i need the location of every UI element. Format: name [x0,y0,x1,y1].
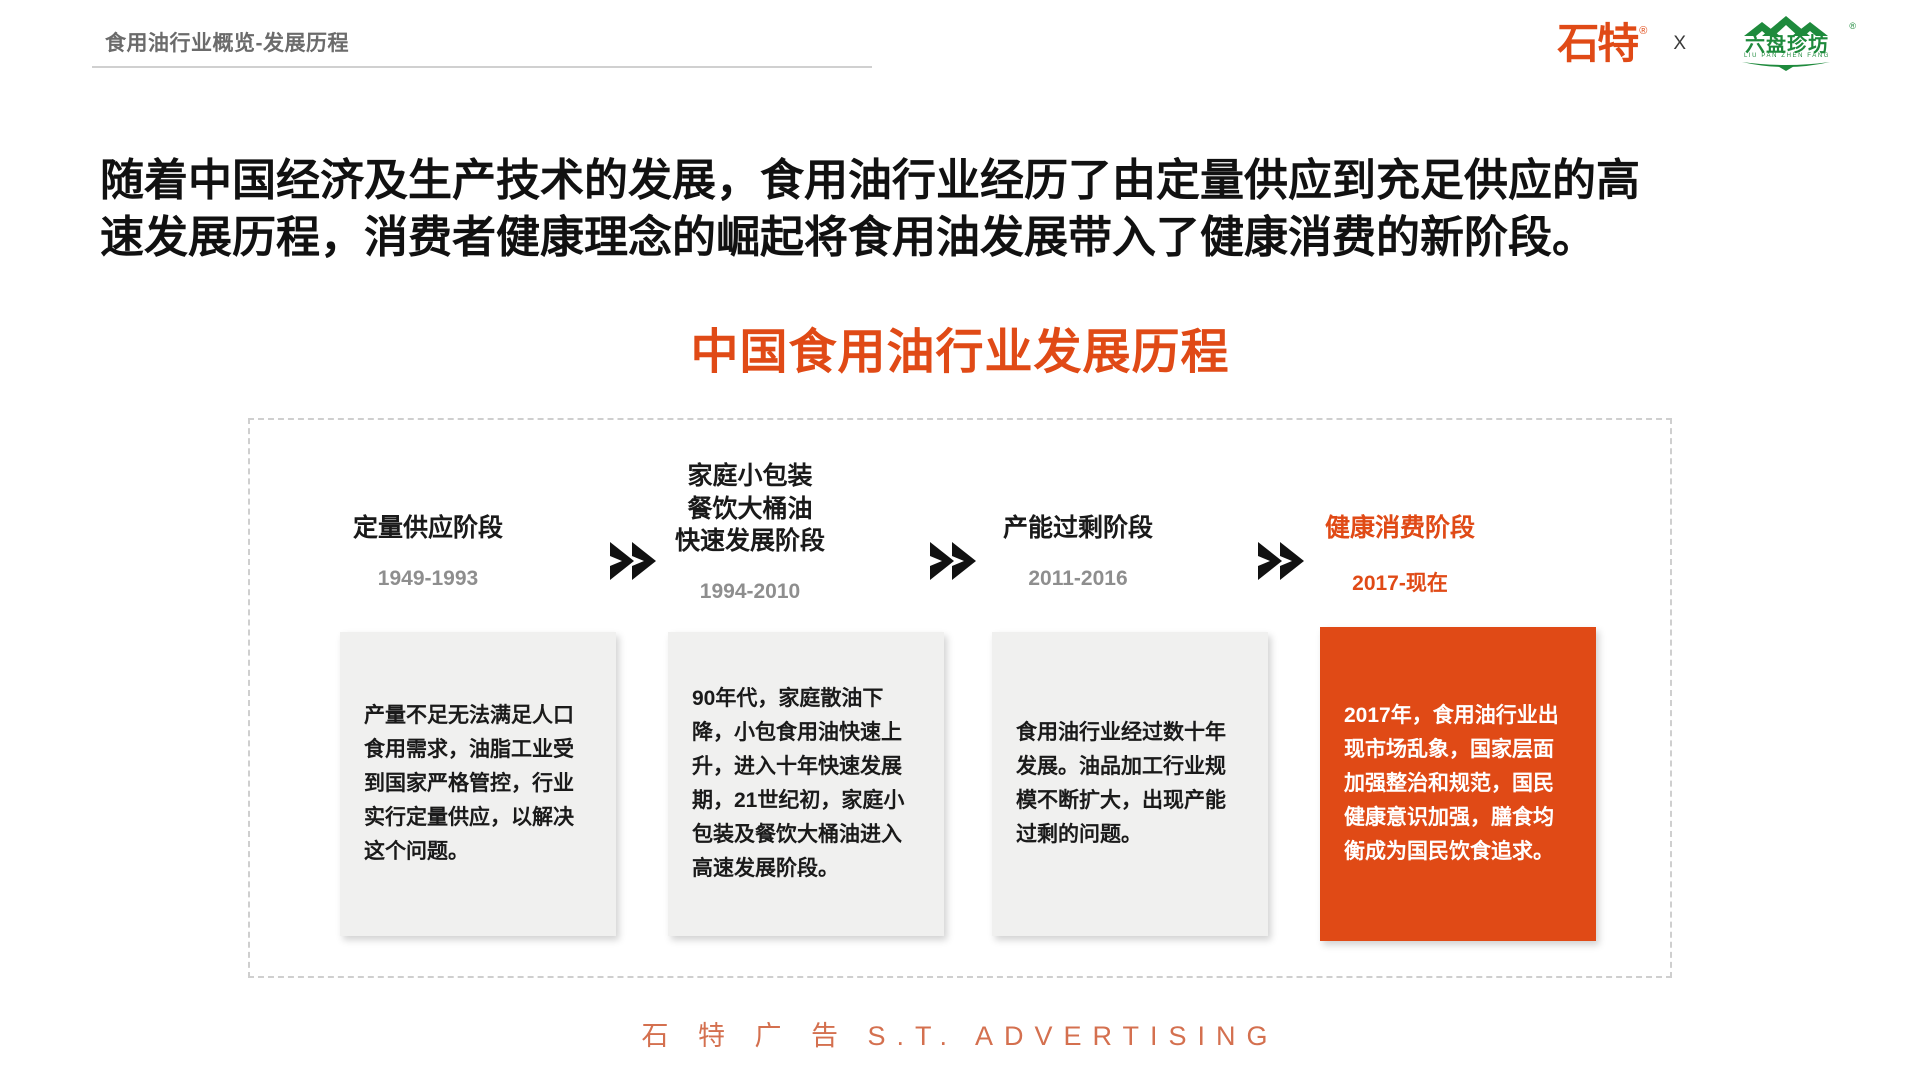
header-divider [92,66,872,68]
slide-root: 食用油行业概览-发展历程 石特 ® X ® 六盘珍坊 LIU PAN ZHEN … [0,0,1920,1080]
stage-2-body: 90年代，家庭散油下降，小包食用油快速上升，进入十年快速发展期，21世纪初，家庭… [692,682,920,886]
stage-2-card[interactable]: 90年代，家庭散油下降，小包食用油快速上升，进入十年快速发展期，21世纪初，家庭… [668,632,944,936]
breadcrumb: 食用油行业概览-发展历程 [105,27,349,57]
section-title: 中国食用油行业发展历程 [0,312,1920,382]
swoosh-icon [1742,59,1830,77]
stage-4-body: 2017年，食用油行业出现市场乱象，国家层面加强整治和规范，国民健康意识加强，膳… [1344,699,1572,869]
page-title: 随着中国经济及生产技术的发展，食用油行业经历了由定量供应到充足供应的高 速发展历… [100,152,1840,266]
stage-1-body: 产量不足无法满足人口食用需求，油脂工业受到国家严格管控，行业实行定量供应，以解决… [364,699,592,869]
stage-3-card[interactable]: 食用油行业经过数十年发展。油品加工行业规模不断扩大，出现产能过剩的问题。 [992,632,1268,936]
stage-1-card[interactable]: 产量不足无法满足人口食用需求，油脂工业受到国家严格管控，行业实行定量供应，以解决… [340,632,616,936]
headline-line-2: 速发展历程，消费者健康理念的崛起将食用油发展带入了健康消费的新阶段。 [100,209,1840,266]
logo-conjunction: X [1673,33,1686,55]
registered-trademark-icon: ® [1639,25,1647,37]
stage-3-body: 食用油行业经过数十年发展。油品加工行业规模不断扩大，出现产能过剩的问题。 [1016,716,1244,852]
footer-brand: 石 特 广 告 S.T. ADVERTISING [0,1014,1920,1053]
logo-shite-mark: 石特 [1557,23,1637,65]
logo-liupanzhenfang: ® 六盘珍坊 LIU PAN ZHEN FANG [1712,15,1862,73]
timeline-cards: 产量不足无法满足人口食用需求，油脂工业受到国家严格管控，行业实行定量供应，以解决… [248,418,1672,978]
logo-partner-cn: 六盘珍坊 [1724,35,1850,55]
logo-shite: 石特 ® [1557,23,1647,65]
headline-line-1: 随着中国经济及生产技术的发展，食用油行业经历了由定量供应到充足供应的高 [100,152,1840,209]
logo-lockup: 石特 ® X ® 六盘珍坊 LIU PAN ZHEN FANG [1557,14,1862,74]
registered-trademark-icon: ® [1849,21,1856,31]
stage-4-card[interactable]: 2017年，食用油行业出现市场乱象，国家层面加强整治和规范，国民健康意识加强，膳… [1320,627,1596,941]
